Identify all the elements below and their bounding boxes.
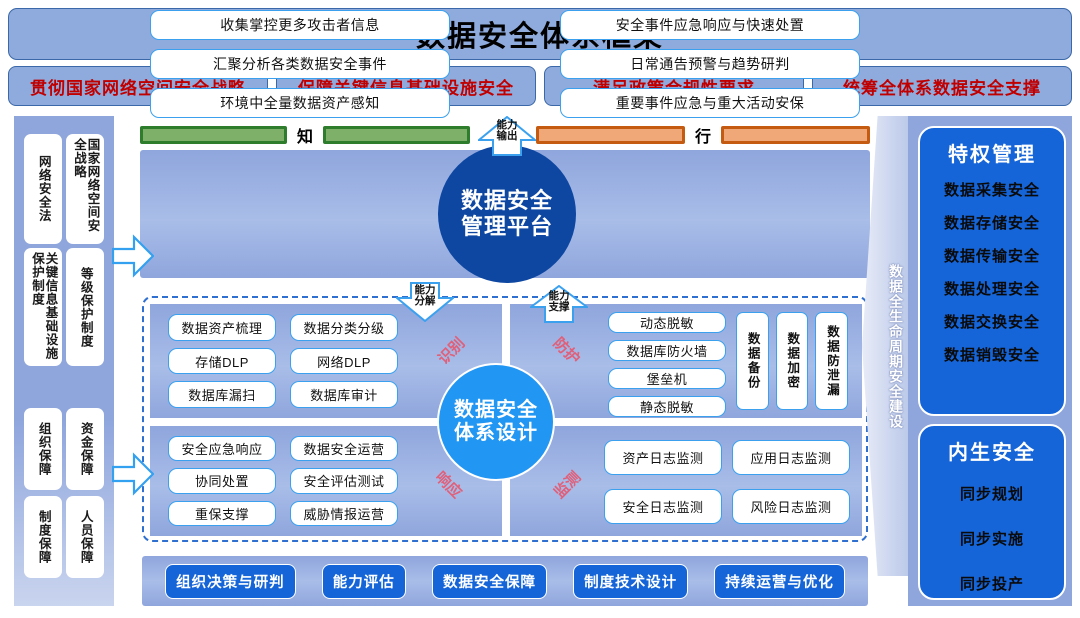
protect-vertical-1[interactable]: 数据加密: [776, 312, 809, 410]
privilege-card-title: 特权管理: [948, 138, 1036, 167]
governance-left-rail: 网络安全法 国家网络空间安全战略 关键信息基础设施保护制度 等级保护制度 组织保…: [14, 116, 114, 606]
privilege-item-1[interactable]: 数据存储安全: [944, 212, 1040, 233]
identify-item-5[interactable]: 数据库审计: [290, 381, 398, 408]
privilege-item-4[interactable]: 数据交换安全: [944, 311, 1040, 332]
respond-item-0[interactable]: 安全应急响应: [168, 436, 276, 461]
rail-cell-2-1[interactable]: 资金保障: [66, 408, 104, 490]
act-label: 行: [691, 123, 715, 147]
endogenous-item-2[interactable]: 同步投产: [960, 573, 1024, 594]
protect-vertical-column: 数据备份 数据加密 数据防泄漏: [736, 312, 848, 410]
capability-decompose-label: 能力分解: [410, 285, 440, 306]
privilege-item-5[interactable]: 数据销毁安全: [944, 344, 1040, 365]
act-item-1[interactable]: 日常通告预警与趋势研判: [560, 49, 860, 79]
act-item-2[interactable]: 重要事件应急与重大活动安保: [560, 88, 860, 118]
protect-item-3[interactable]: 静态脱敏: [608, 396, 726, 417]
know-bar-right: [323, 126, 470, 144]
capability-output-label: 能力输出: [492, 120, 522, 141]
act-bar-right: [721, 126, 870, 144]
act-item-0[interactable]: 安全事件应急响应与快速处置: [560, 10, 860, 40]
bottom-button-4[interactable]: 持续运营与优化: [714, 564, 845, 599]
data-security-system-design[interactable]: 数据安全 体系设计: [437, 363, 555, 481]
monitor-grid: 资产日志监测 应用日志监测 安全日志监测 风险日志监测: [604, 440, 850, 524]
act-item-column: 安全事件应急响应与快速处置 日常通告预警与趋势研判 重要事件应急与重大活动安保: [560, 10, 860, 118]
rail-group-2: 组织保障 资金保障: [24, 408, 104, 490]
know-item-2[interactable]: 环境中全量数据资产感知: [150, 88, 450, 118]
platform-line-1: 数据安全: [461, 188, 553, 214]
know-header: 知: [140, 122, 470, 148]
right-rail: 特权管理 数据采集安全 数据存储安全 数据传输安全 数据处理安全 数据交换安全 …: [908, 116, 1072, 606]
platform-line-2: 管理平台: [461, 214, 553, 240]
rail-cell-3-1[interactable]: 人员保障: [66, 496, 104, 578]
identify-item-2[interactable]: 存储DLP: [168, 348, 276, 375]
respond-column-left: 安全应急响应 协同处置 重保支撑: [168, 436, 276, 526]
capability-support-label: 能力支撑: [544, 291, 574, 312]
rail-group-1: 关键信息基础设施保护制度 等级保护制度: [24, 248, 104, 366]
bottom-button-2[interactable]: 数据安全保障: [432, 564, 547, 599]
rail-cell-2-0[interactable]: 组织保障: [24, 408, 62, 490]
monitor-item-0[interactable]: 资产日志监测: [604, 440, 722, 475]
arrow-right-icon-bottom: [112, 452, 154, 496]
bottom-button-3[interactable]: 制度技术设计: [573, 564, 688, 599]
respond-item-1[interactable]: 数据安全运营: [290, 436, 398, 461]
respond-item-3[interactable]: 安全评估测试: [290, 468, 398, 493]
identify-column-right: 数据分类分级 网络DLP 数据库审计: [290, 314, 398, 408]
respond-item-2[interactable]: 协同处置: [168, 468, 276, 493]
protect-item-2[interactable]: 堡垒机: [608, 368, 726, 389]
monitor-item-2[interactable]: 安全日志监测: [604, 489, 722, 524]
act-header: 行: [536, 122, 870, 148]
protect-item-0[interactable]: 动态脱敏: [608, 312, 726, 333]
identify-item-1[interactable]: 数据分类分级: [290, 314, 398, 341]
protect-vertical-0[interactable]: 数据备份: [736, 312, 769, 410]
rail-cell-1-0[interactable]: 关键信息基础设施保护制度: [24, 248, 62, 366]
arrow-right-icon-top: [112, 234, 154, 278]
monitor-item-1[interactable]: 应用日志监测: [732, 440, 850, 475]
know-item-0[interactable]: 收集掌控更多攻击者信息: [150, 10, 450, 40]
know-bar-left: [140, 126, 287, 144]
know-item-column: 收集掌控更多攻击者信息 汇聚分析各类数据安全事件 环境中全量数据资产感知: [150, 10, 450, 118]
rail-cell-1-1[interactable]: 等级保护制度: [66, 248, 104, 366]
identify-column-left: 数据资产梳理 存储DLP 数据库漏扫: [168, 314, 276, 408]
rail-cell-0-0[interactable]: 网络安全法: [24, 134, 62, 244]
protect-item-1[interactable]: 数据库防火墙: [608, 340, 726, 361]
monitor-item-3[interactable]: 风险日志监测: [732, 489, 850, 524]
identify-item-3[interactable]: 网络DLP: [290, 348, 398, 375]
design-line-1: 数据安全: [454, 399, 538, 422]
know-label: 知: [293, 123, 317, 147]
rail-group-3: 制度保障 人员保障: [24, 496, 104, 578]
lifecycle-label: 数据全生命周期安全建设: [886, 264, 906, 429]
respond-item-4[interactable]: 重保支撑: [168, 501, 276, 526]
endogenous-item-1[interactable]: 同步实施: [960, 528, 1024, 549]
data-security-management-platform[interactable]: 数据安全 管理平台: [438, 145, 576, 283]
bottom-action-bar: 组织决策与研判 能力评估 数据安全保障 制度技术设计 持续运营与优化: [142, 556, 868, 606]
respond-item-5[interactable]: 威胁情报运营: [290, 501, 398, 526]
design-line-2: 体系设计: [454, 422, 538, 445]
act-bar-left: [536, 126, 685, 144]
rail-group-0: 网络安全法 国家网络空间安全战略: [24, 134, 104, 244]
endogenous-card-title: 内生安全: [948, 436, 1036, 465]
endogenous-security-card[interactable]: 内生安全 同步规划 同步实施 同步投产: [918, 424, 1066, 600]
identify-item-0[interactable]: 数据资产梳理: [168, 314, 276, 341]
know-item-1[interactable]: 汇聚分析各类数据安全事件: [150, 49, 450, 79]
rail-cell-3-0[interactable]: 制度保障: [24, 496, 62, 578]
respond-column-right: 数据安全运营 安全评估测试 威胁情报运营: [290, 436, 398, 526]
protect-column: 动态脱敏 数据库防火墙 堡垒机 静态脱敏: [608, 312, 726, 410]
protect-vertical-2[interactable]: 数据防泄漏: [815, 312, 848, 410]
rail-cell-0-1[interactable]: 国家网络空间安全战略: [66, 134, 104, 244]
bottom-button-1[interactable]: 能力评估: [322, 564, 406, 599]
bottom-button-0[interactable]: 组织决策与研判: [165, 564, 296, 599]
privilege-management-card[interactable]: 特权管理 数据采集安全 数据存储安全 数据传输安全 数据处理安全 数据交换安全 …: [918, 126, 1066, 416]
privilege-item-2[interactable]: 数据传输安全: [944, 245, 1040, 266]
privilege-item-3[interactable]: 数据处理安全: [944, 278, 1040, 299]
endogenous-item-0[interactable]: 同步规划: [960, 483, 1024, 504]
identify-item-4[interactable]: 数据库漏扫: [168, 381, 276, 408]
privilege-item-0[interactable]: 数据采集安全: [944, 179, 1040, 200]
